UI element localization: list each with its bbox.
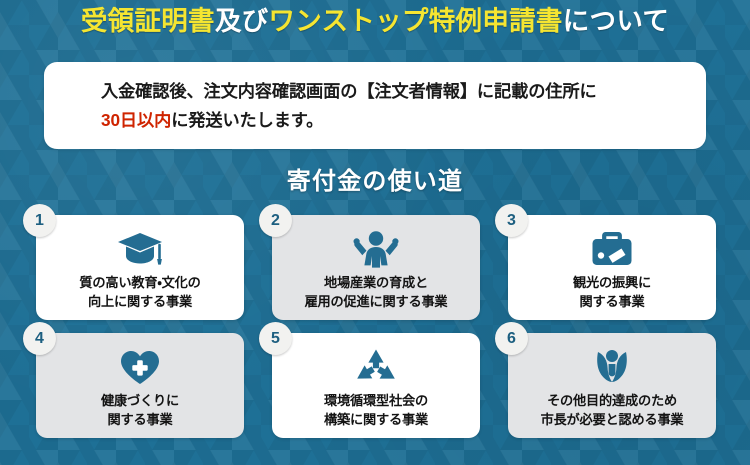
card-number-badge: 3 <box>495 204 528 237</box>
infographic-canvas: 受領証明書及びワンストップ特例申請書について 入金確認後、注文内容確認画面の【注… <box>0 0 750 465</box>
card-number-badge: 4 <box>23 322 56 355</box>
person-open-arms-icon <box>592 345 632 389</box>
usage-card-5[interactable]: 5 環境循環型社会の 構築に関する事業 <box>272 333 480 438</box>
notice-deadline-highlight: 30日以内 <box>101 110 171 130</box>
usage-card-label: 健康づくりに 関する事業 <box>101 392 179 429</box>
notice-line-2: 30日以内に発送いたします。 <box>44 106 706 135</box>
suitcase-icon <box>590 227 634 271</box>
card-number-badge: 1 <box>23 204 56 237</box>
title-segment-2: 及び <box>215 6 269 36</box>
title-segment-4: について <box>563 6 669 36</box>
usage-card-3[interactable]: 3 観光の振興に 関する事業 <box>508 215 716 320</box>
card-number-badge: 2 <box>259 204 292 237</box>
notice-line-1: 入金確認後、注文内容確認画面の【注文者情報】に記載の住所に <box>44 77 706 106</box>
usage-card-6[interactable]: 6 その他目的達成のため 市長が必要と認める事業 <box>508 333 716 438</box>
usage-card-4[interactable]: 4 健康づくりに 関する事業 <box>36 333 244 438</box>
usage-card-label: その他目的達成のため 市長が必要と認める事業 <box>541 392 684 429</box>
card-number-badge: 6 <box>495 322 528 355</box>
section-heading: 寄付金の使い道 <box>0 161 750 196</box>
usage-card-2[interactable]: 2 地場産業の育成と 雇用の促進に関する事業 <box>272 215 480 320</box>
usage-card-1[interactable]: 1 質の高い教育・文化の 向上に関する事業 <box>36 215 244 320</box>
person-raising-arms-icon <box>353 227 399 271</box>
title-segment-1: 受領証明書 <box>81 6 215 36</box>
usage-card-label: 質の高い教育・文化の 向上に関する事業 <box>79 274 200 311</box>
title-segment-3: ワンストップ特例申請書 <box>268 6 562 36</box>
usage-card-label: 環境循環型社会の 構築に関する事業 <box>324 392 428 429</box>
notice-line-2-rest: に発送いたします。 <box>171 110 323 130</box>
graduation-cap-icon <box>117 227 163 271</box>
heart-plus-icon <box>118 345 162 389</box>
usage-card-grid: 1 質の高い教育・文化の 向上に関する事業 2 <box>36 215 716 438</box>
page-title: 受領証明書及びワンストップ特例申請書について <box>0 8 750 35</box>
notice-card: 入金確認後、注文内容確認画面の【注文者情報】に記載の住所に 30日以内に発送いた… <box>44 62 706 149</box>
usage-card-label: 観光の振興に 関する事業 <box>573 274 651 311</box>
card-number-badge: 5 <box>259 322 292 355</box>
recycle-icon <box>354 345 398 389</box>
usage-card-label: 地場産業の育成と 雇用の促進に関する事業 <box>305 274 448 311</box>
